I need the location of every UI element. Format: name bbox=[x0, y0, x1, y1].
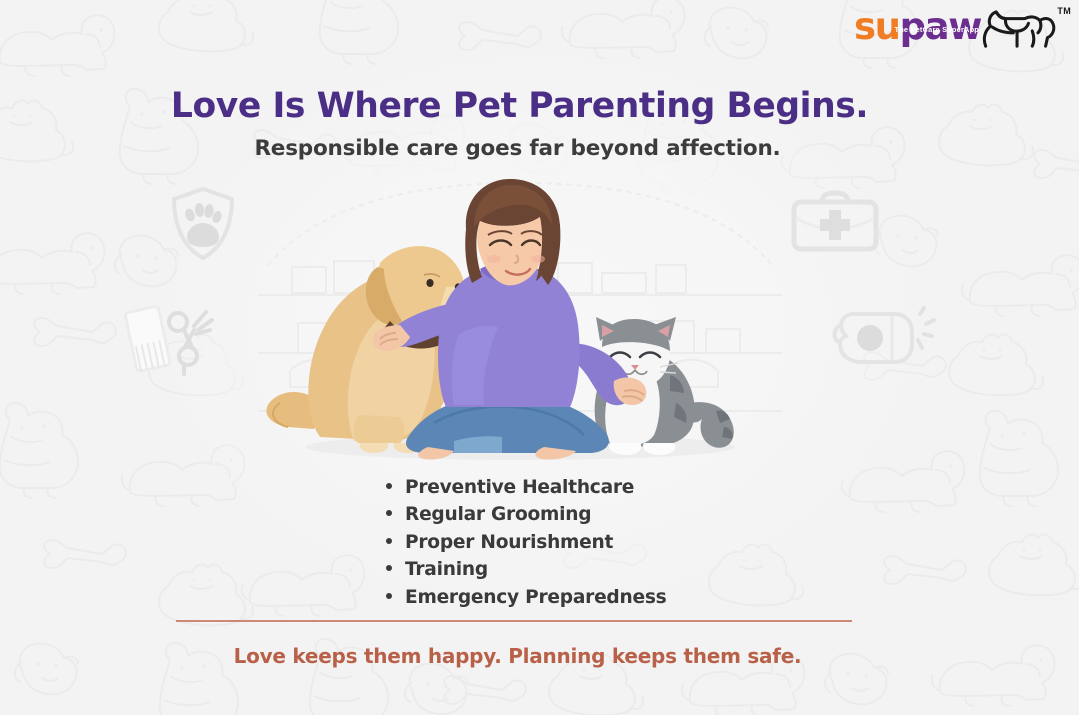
bullet-dot-icon bbox=[386, 483, 392, 489]
list-item-label: Emergency Preparedness bbox=[405, 584, 666, 611]
list-item-label: Proper Nourishment bbox=[405, 529, 613, 556]
list-item-label: Training bbox=[405, 556, 488, 583]
logo-word-su: su bbox=[854, 5, 900, 48]
page-subtitle: Responsible care goes far beyond affecti… bbox=[0, 136, 1035, 161]
list-item: Emergency Preparedness bbox=[386, 584, 666, 611]
list-item-label: Regular Grooming bbox=[405, 501, 591, 528]
first-aid-kit-icon bbox=[790, 190, 880, 265]
list-item: Proper Nourishment bbox=[386, 529, 666, 556]
footer-tagline: Love keeps them happy. Planning keeps th… bbox=[0, 644, 1035, 668]
care-checklist: Preventive Healthcare Regular Grooming P… bbox=[386, 474, 666, 611]
bullet-dot-icon bbox=[386, 593, 392, 599]
footer-divider bbox=[176, 620, 852, 622]
list-item: Preventive Healthcare bbox=[386, 474, 666, 501]
supaw-logo[interactable]: supaw The PetCare SuperApp TM bbox=[854, 8, 1057, 54]
bullet-dot-icon bbox=[386, 565, 392, 571]
trademark-icon: TM bbox=[1057, 6, 1071, 16]
whistle-icon bbox=[828, 306, 940, 389]
logo-wordmark: supaw The PetCare SuperApp bbox=[854, 8, 981, 45]
list-item: Training bbox=[386, 556, 666, 583]
grooming-comb-scissors-icon bbox=[122, 300, 234, 389]
list-item: Regular Grooming bbox=[386, 501, 666, 528]
bullet-dot-icon bbox=[386, 538, 392, 544]
shield-paw-icon bbox=[170, 186, 236, 267]
bullet-dot-icon bbox=[386, 510, 392, 516]
poster-canvas: supaw The PetCare SuperApp TM Love Is Wh… bbox=[0, 0, 1079, 715]
logo-tagline: The PetCare SuperApp bbox=[895, 11, 980, 48]
dog-outline-icon: TM bbox=[979, 8, 1057, 52]
page-title: Love Is Where Pet Parenting Begins. bbox=[0, 86, 1039, 126]
list-item-label: Preventive Healthcare bbox=[405, 474, 634, 501]
girl-hugging-dog-and-cat-illustration bbox=[258, 175, 782, 460]
